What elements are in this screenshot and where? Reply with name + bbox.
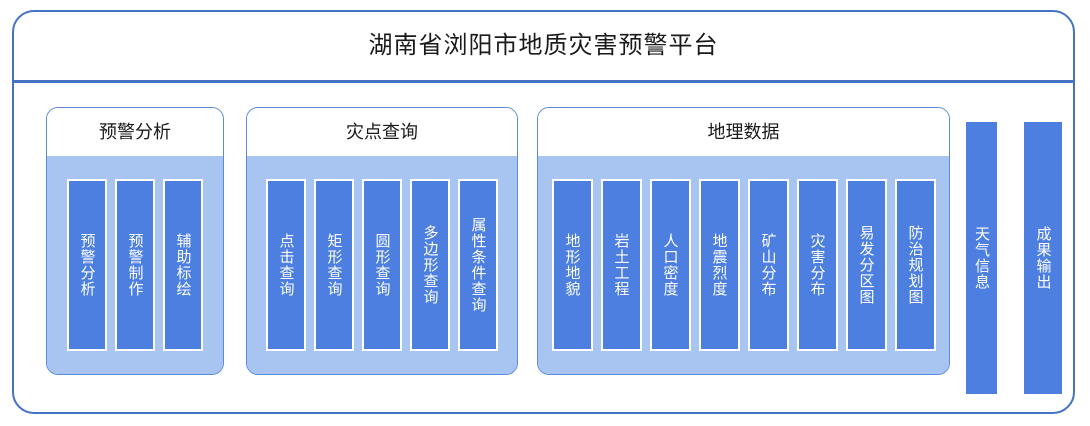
module-bar-label: 多边形查询 — [421, 225, 438, 305]
module-bar-label: 成果输出 — [1034, 226, 1051, 290]
platform-title: 湖南省浏阳市地质灾害预警平台 — [14, 12, 1073, 80]
module-bar-label: 辅助标绘 — [174, 233, 191, 297]
module-bar-label: 防治规划图 — [906, 225, 923, 305]
module-bar-label: 岩土工程 — [612, 233, 629, 297]
module-bar-mine-distribution-item[interactable]: 矿山分布 — [748, 179, 789, 351]
module-bar-label: 矿山分布 — [759, 233, 776, 297]
section-title-disaster-point-query: 灾点查询 — [247, 108, 517, 156]
module-bar-click-query-item[interactable]: 点击查询 — [266, 179, 306, 351]
section-body-warning-analysis: 预警分析预警制作辅助标绘 — [47, 156, 223, 374]
module-bar-assist-plotting-item[interactable]: 辅助标绘 — [163, 179, 203, 351]
module-bar-warning-analysis-item[interactable]: 预警分析 — [67, 179, 107, 351]
module-bar-disaster-distribution-item[interactable]: 灾害分布 — [797, 179, 838, 351]
module-bar-warning-production-item[interactable]: 预警制作 — [115, 179, 155, 351]
section-items-geographic-data: 地形地貌岩土工程人口密度地震烈度矿山分布灾害分布易发分区图防治规划图 — [552, 179, 936, 351]
section-items-disaster-point-query: 点击查询矩形查询圆形查询多边形查询属性条件查询 — [266, 179, 498, 351]
section-title-warning-analysis: 预警分析 — [47, 108, 223, 156]
module-bar-population-density-item[interactable]: 人口密度 — [650, 179, 691, 351]
module-bar-terrain-landform-item[interactable]: 地形地貌 — [552, 179, 593, 351]
module-bar-polygon-query-item[interactable]: 多边形查询 — [410, 179, 450, 351]
module-bar-prevention-planning-map-item[interactable]: 防治规划图 — [895, 179, 936, 351]
module-bar-attribute-condition-query-item[interactable]: 属性条件查询 — [458, 179, 498, 351]
module-bar-label: 地震烈度 — [710, 233, 727, 297]
module-bar-seismic-intensity-item[interactable]: 地震烈度 — [699, 179, 740, 351]
module-bar-label: 圆形查询 — [373, 233, 390, 297]
platform-frame: 湖南省浏阳市地质灾害预警平台 预警分析预警分析预警制作辅助标绘灾点查询点击查询矩… — [12, 10, 1075, 414]
section-body-geographic-data: 地形地貌岩土工程人口密度地震烈度矿山分布灾害分布易发分区图防治规划图 — [538, 156, 949, 374]
module-bar-label: 人口密度 — [661, 233, 678, 297]
module-bar-circle-query-item[interactable]: 圆形查询 — [362, 179, 402, 351]
section-body-disaster-point-query: 点击查询矩形查询圆形查询多边形查询属性条件查询 — [247, 156, 517, 374]
modules-row: 预警分析预警分析预警制作辅助标绘灾点查询点击查询矩形查询圆形查询多边形查询属性条… — [14, 82, 1073, 412]
module-bar-label: 预警分析 — [78, 233, 95, 297]
section-title-geographic-data: 地理数据 — [538, 108, 949, 156]
module-bar-label: 属性条件查询 — [469, 217, 486, 313]
module-bar-label: 天气信息 — [973, 226, 990, 290]
module-bar-label: 预警制作 — [126, 233, 143, 297]
module-bar-label: 点击查询 — [277, 233, 294, 297]
module-bar-rectangle-query-item[interactable]: 矩形查询 — [314, 179, 354, 351]
module-bar-geotechnical-engineering-item[interactable]: 岩土工程 — [601, 179, 642, 351]
module-bar-weather-information-bar[interactable]: 天气信息 — [966, 122, 997, 394]
module-bar-label: 灾害分布 — [808, 233, 825, 297]
module-bar-susceptibility-zoning-map-item[interactable]: 易发分区图 — [846, 179, 887, 351]
module-bar-label: 地形地貌 — [563, 233, 580, 297]
section-items-warning-analysis: 预警分析预警制作辅助标绘 — [67, 179, 203, 351]
section-panel-geographic-data: 地理数据地形地貌岩土工程人口密度地震烈度矿山分布灾害分布易发分区图防治规划图 — [537, 107, 950, 375]
module-bar-label: 矩形查询 — [325, 233, 342, 297]
section-panel-disaster-point-query: 灾点查询点击查询矩形查询圆形查询多边形查询属性条件查询 — [246, 107, 518, 375]
section-panel-warning-analysis: 预警分析预警分析预警制作辅助标绘 — [46, 107, 224, 375]
module-bar-results-output-bar[interactable]: 成果输出 — [1024, 122, 1062, 394]
module-bar-label: 易发分区图 — [857, 225, 874, 305]
